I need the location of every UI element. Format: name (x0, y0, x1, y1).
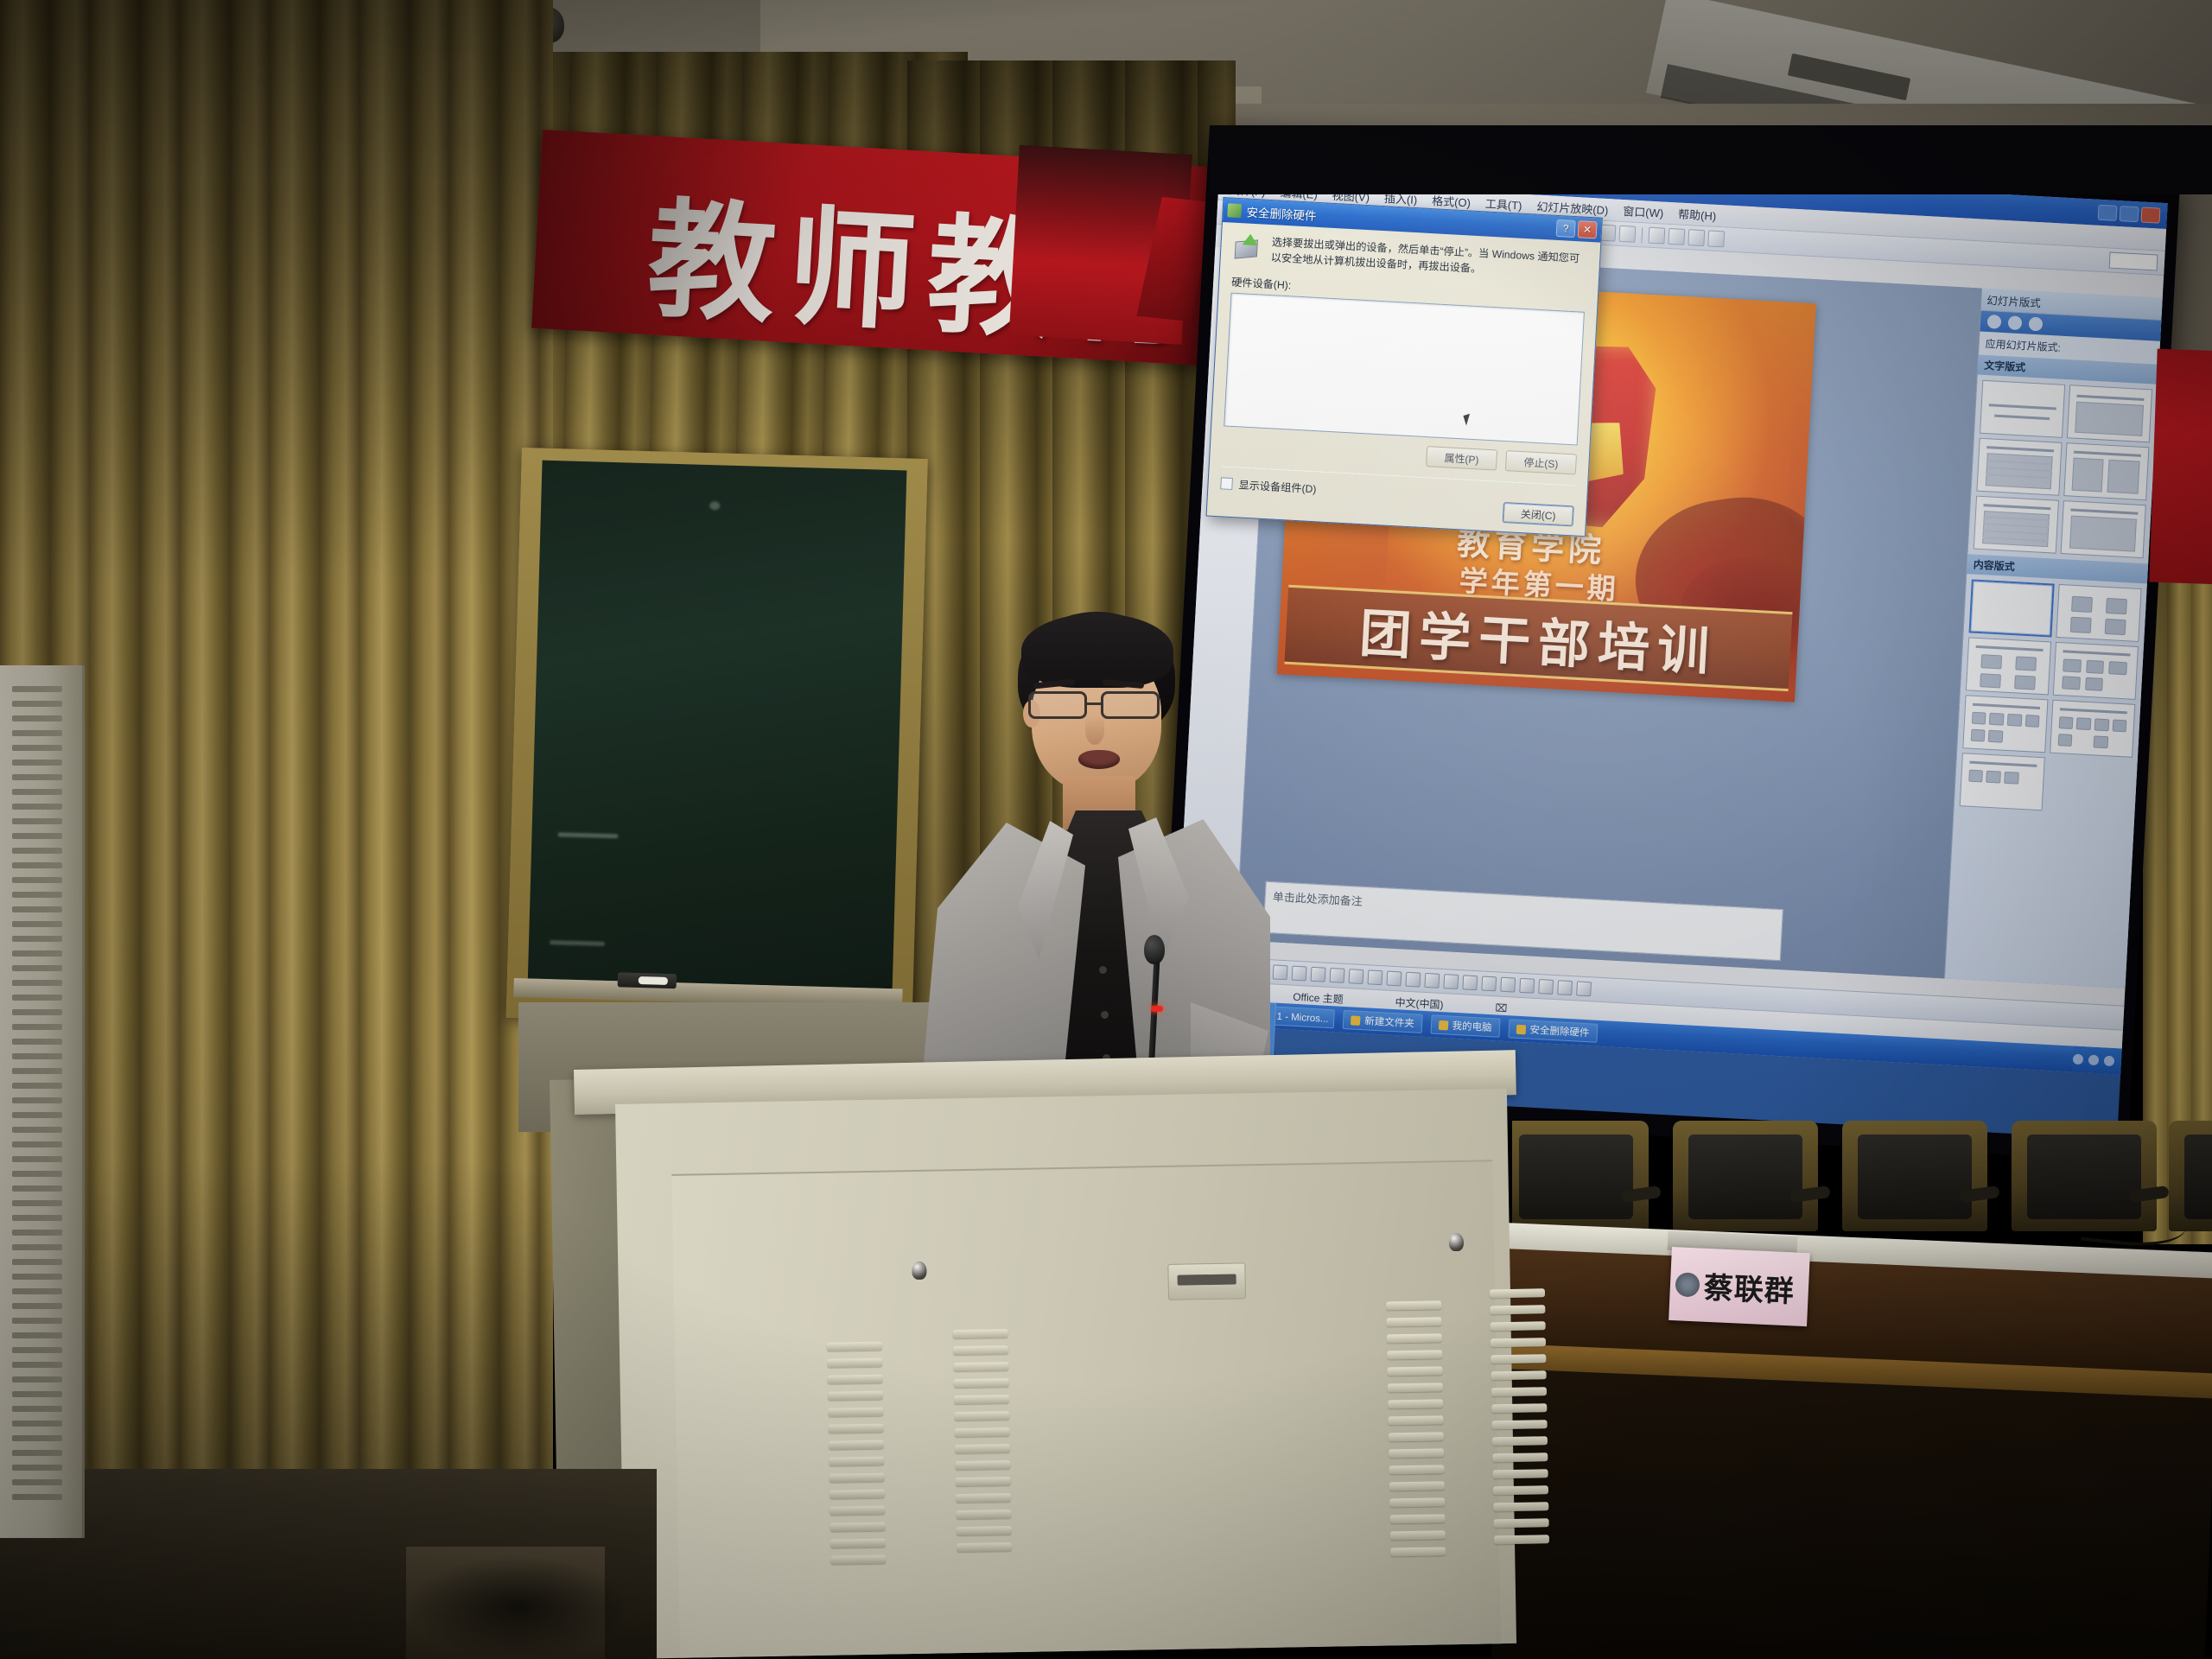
shirt-button (1099, 966, 1107, 974)
taskbar-item-label: 安全删除硬件 (1529, 1023, 1590, 1040)
safely-remove-hardware-icon (1227, 203, 1242, 218)
computer-icon (1438, 1020, 1448, 1030)
safely-remove-hardware-dialog[interactable]: 安全删除硬件 ? ✕ 选择要拔出或弹出的设备，然后单击“停止”。当 Window… (1206, 197, 1603, 537)
hardware-icon (1516, 1024, 1526, 1034)
dialog-message: 选择要拔出或弹出的设备，然后单击“停止”。当 Windows 通知您可以安全地从… (1270, 235, 1587, 283)
clipart-icon[interactable] (1405, 972, 1421, 988)
side-red-banner: 欢迎 (2149, 349, 2212, 585)
usb-icon[interactable] (2104, 1056, 2115, 1067)
podium-cabinet (615, 1089, 1516, 1659)
network-icon[interactable] (2088, 1055, 2100, 1066)
layout-thumb-four-content[interactable] (1962, 695, 2048, 753)
chair (1673, 1121, 1818, 1231)
align-left-icon[interactable] (1648, 227, 1665, 245)
oval-icon[interactable] (1329, 968, 1344, 983)
dialog-title: 安全删除硬件 (1246, 202, 1317, 223)
restore-button[interactable] (2120, 206, 2139, 222)
placard-name: 蔡联群 (1703, 1264, 1796, 1311)
system-tray[interactable] (2072, 1046, 2122, 1075)
back-icon[interactable] (1987, 315, 2002, 329)
stop-button[interactable]: 停止(S) (1505, 450, 1577, 474)
text-layout-grid[interactable] (1967, 374, 2158, 563)
dialog-message-row: 选择要拔出或弹出的设备，然后单击“停止”。当 Windows 通知您可以安全地从… (1232, 233, 1587, 283)
checkbox-icon[interactable] (1220, 478, 1233, 491)
institution-seal-icon (1675, 1272, 1700, 1297)
microphone-icon (1144, 935, 1165, 964)
menu-help[interactable]: 帮助(H) (1671, 202, 1724, 226)
slide-title: 团学干部培训 (1357, 591, 1719, 685)
dialog-body: 选择要拔出或弹出的设备，然后单击“停止”。当 Windows 通知您可以安全地从… (1206, 222, 1600, 537)
projection-screen: Microsoft PowerPoint - [团学干部培训.ppt] 文件(F… (1156, 125, 2180, 1161)
taskbar-item-new-folder[interactable]: 新建文件夹 (1343, 1010, 1423, 1033)
wall-radiator (0, 665, 85, 1538)
menu-window[interactable]: 窗口(W) (1616, 200, 1671, 224)
line-style-icon[interactable] (1500, 977, 1516, 993)
wordart-icon[interactable] (1367, 969, 1382, 985)
layout-thumb-blank-text[interactable] (2061, 500, 2146, 558)
chalk-smudge (709, 501, 720, 510)
notes-pane[interactable]: 单击此处添加备注 (1263, 881, 1783, 961)
content-layout-grid[interactable] (1954, 574, 2147, 821)
insert-picture-icon[interactable] (1424, 973, 1440, 988)
design-button[interactable] (2109, 252, 2158, 271)
blackboard-surface (528, 461, 907, 989)
cabinet-lock-icon[interactable] (1449, 1233, 1464, 1251)
microphone-indicator-led (1151, 1006, 1163, 1012)
projected-desktop: Microsoft PowerPoint - [团学干部培训.ppt] 文件(F… (1170, 152, 2168, 1140)
cabinet-vent (1490, 1288, 1549, 1552)
radiator-slats (12, 686, 62, 1509)
cabinet-vent (827, 1342, 887, 1573)
cabinet-lock-icon[interactable] (912, 1262, 926, 1280)
rectangle-icon[interactable] (1310, 967, 1325, 982)
diagram-icon[interactable] (1386, 971, 1402, 987)
chalk-stick (639, 976, 668, 985)
taskbar-item-safely-remove[interactable]: 安全删除硬件 (1508, 1019, 1598, 1043)
dash-style-icon[interactable] (1519, 978, 1535, 994)
blackboard (506, 448, 928, 1029)
layout-thumb-title-slide[interactable] (1980, 380, 2065, 438)
fill-color-icon[interactable] (1443, 974, 1459, 989)
font-color-icon[interactable] (1481, 976, 1497, 991)
layout-thumb-title-content[interactable] (1966, 637, 2051, 695)
folder-icon (1351, 1015, 1361, 1026)
textbox-icon[interactable] (1348, 969, 1363, 984)
eject-device-icon (1233, 233, 1264, 263)
powerpoint-window[interactable]: Microsoft PowerPoint - [团学干部培训.ppt] 文件(F… (1173, 152, 2168, 1075)
cabinet-vent (1386, 1300, 1446, 1564)
status-spellcheck-icon: ⌧ (1495, 1001, 1508, 1014)
close-dialog-button[interactable]: 关闭(C) (1503, 502, 1574, 526)
taskbar-item-label: 新建文件夹 (1364, 1014, 1414, 1030)
window-buttons (2098, 205, 2161, 224)
layout-thumb-content-text[interactable] (2050, 700, 2135, 758)
hardware-devices-list[interactable] (1224, 293, 1585, 446)
chair (1512, 1121, 1649, 1231)
home-icon[interactable] (2029, 317, 2044, 332)
close-button[interactable] (2140, 207, 2160, 223)
close-icon[interactable]: ✕ (1578, 220, 1598, 238)
layout-thumb-title-text-dense[interactable] (1974, 496, 2059, 554)
toolbar-separator (1641, 227, 1643, 243)
underline-icon[interactable] (1618, 226, 1636, 243)
align-center-icon[interactable] (1668, 228, 1685, 245)
lecture-hall-photo: 教师教育 Microsoft PowerPoint - [团学干部培训.ppt] (0, 0, 2212, 1659)
line-color-icon[interactable] (1462, 975, 1478, 990)
chair (1842, 1121, 1987, 1231)
cabinet-vent (953, 1329, 1013, 1560)
layout-thumb-blank[interactable] (1969, 579, 2055, 637)
checkbox-label: 显示设备组件(D) (1238, 477, 1317, 497)
arrow-icon[interactable] (1291, 966, 1306, 982)
taskbar-item-label: 我的电脑 (1452, 1019, 1492, 1034)
properties-button[interactable]: 属性(P) (1426, 447, 1497, 471)
slide-layout-task-pane[interactable]: 幻灯片版式 应用幻灯片版式: 文字版式 (1944, 289, 2163, 988)
name-placard: 蔡联群 (1669, 1247, 1810, 1326)
threed-style-icon[interactable] (1576, 981, 1592, 996)
cabinet-handle[interactable] (1167, 1262, 1246, 1300)
layout-thumb-title-two-content[interactable] (2053, 642, 2139, 700)
layout-thumb-text-content[interactable] (1960, 753, 2045, 810)
presenter (916, 605, 1279, 1089)
taskbar-item-my-computer[interactable]: 我的电脑 (1430, 1014, 1500, 1037)
layout-thumb-two-column-text[interactable] (2063, 442, 2149, 500)
layout-thumb-title-text[interactable] (1976, 438, 2062, 496)
minimize-button[interactable] (2098, 205, 2118, 221)
floor-shadow (406, 1555, 631, 1659)
presenter-hair-front (1021, 613, 1173, 688)
shirt-button (1101, 1011, 1109, 1019)
arrow-style-icon[interactable] (1538, 979, 1554, 995)
floor-shadow-area (1491, 1369, 2212, 1659)
chalk-smudge (550, 940, 605, 946)
help-button[interactable]: ? (1556, 219, 1576, 238)
volume-icon[interactable] (2073, 1054, 2084, 1065)
podium-front-panel (671, 1160, 1501, 1657)
screen-top-bezel (1210, 125, 2212, 194)
dialog-close-row: 关闭(C) (1503, 502, 1574, 526)
forward-icon[interactable] (2008, 315, 2023, 330)
bullets-icon[interactable] (1688, 229, 1705, 246)
presenter-nose (1085, 715, 1104, 745)
shadow-style-icon[interactable] (1557, 980, 1573, 995)
dialog-window-buttons: ? ✕ (1556, 219, 1598, 239)
zoom-icon[interactable] (1707, 230, 1725, 247)
presenter-mouth (1078, 750, 1120, 769)
layout-thumb-title-only[interactable] (2067, 385, 2152, 442)
chalk-smudge (557, 832, 618, 838)
layout-thumb-content[interactable] (2056, 584, 2141, 642)
